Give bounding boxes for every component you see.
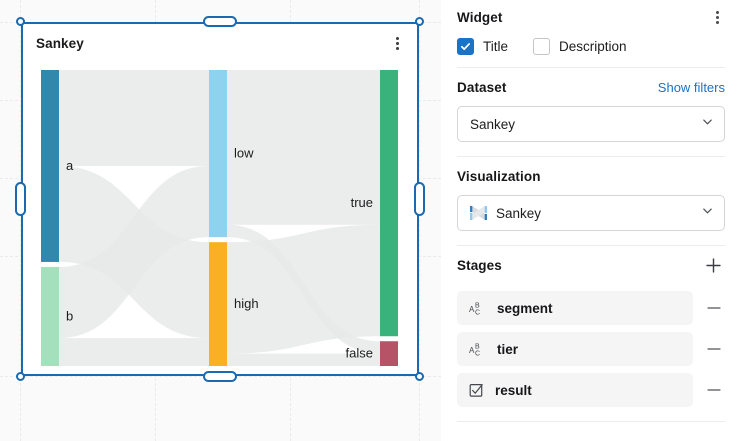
sankey-chart[interactable]: ablowhightruefalse [23,62,417,374]
svg-text:C: C [475,309,480,316]
string-type-icon: A B C [469,342,487,357]
sankey-link[interactable] [59,70,209,166]
widget-title: Sankey [36,36,84,51]
stages-section-title: Stages [457,258,502,273]
selected-widget[interactable]: Sankey ablowhightruefalse [21,22,419,376]
resize-handle-bottom[interactable] [203,371,237,382]
chevron-down-icon [701,204,714,222]
visualization-select-value: Sankey [496,206,541,221]
checkbox-description[interactable]: Description [533,38,627,55]
stage-item-label: tier [497,342,518,357]
remove-stage-button[interactable] [703,338,725,360]
widget-header: Sankey [23,24,417,62]
show-filters-link[interactable]: Show filters [658,80,725,95]
resize-handle-bottom-left[interactable] [16,372,25,381]
stage-item-label: result [495,383,532,398]
stages-section-header: Stages [457,246,725,284]
kebab-menu-icon[interactable] [389,36,405,51]
sankey-node-label: a [66,158,74,173]
sankey-link[interactable] [227,225,380,354]
sankey-node-label: false [346,346,373,361]
resize-handle-top-right[interactable] [415,17,424,26]
minus-icon [705,340,723,358]
dataset-select[interactable]: Sankey [457,106,725,142]
visualization-section: Visualization Sankey [457,157,725,246]
sankey-node-label: b [66,308,73,323]
sankey-link[interactable] [59,338,209,366]
stage-item-label: segment [497,301,553,316]
plus-icon [704,256,723,275]
checkbox-title-label: Title [483,39,508,54]
dataset-select-value: Sankey [470,117,515,132]
resize-handle-top[interactable] [203,16,237,27]
stage-item-segment[interactable]: A B C segment [457,291,693,325]
stage-row: A B C segment [457,291,725,325]
stage-row: result [457,373,725,407]
stages-section: Stages A B C segment [457,246,725,422]
stage-item-result[interactable]: result [457,373,693,407]
check-icon [457,38,474,55]
properties-panel: Widget Title Description [441,0,741,441]
sankey-node-b[interactable] [41,267,59,366]
sankey-node-low[interactable] [209,70,227,237]
kebab-menu-icon[interactable] [709,10,725,25]
checkbox-title[interactable]: Title [457,38,508,55]
sankey-node-label: high [234,296,259,311]
svg-text:B: B [475,343,480,350]
sankey-node-a[interactable] [41,70,59,262]
stage-item-tier[interactable]: A B C tier [457,332,693,366]
boolean-type-icon [469,383,485,398]
chevron-down-icon [701,115,714,133]
sankey-node-high[interactable] [209,242,227,366]
checkbox-empty-icon [533,38,550,55]
widget-section-title: Widget [457,10,502,25]
remove-stage-button[interactable] [703,297,725,319]
resize-handle-right[interactable] [414,182,425,216]
dataset-section-title: Dataset [457,80,506,95]
dataset-section: Dataset Show filters Sankey [457,68,725,157]
dashboard-canvas[interactable]: Sankey ablowhightruefalse [0,0,441,441]
visualization-section-title: Visualization [457,169,541,184]
sankey-node-label: true [351,195,373,210]
sankey-node-label: low [234,146,254,161]
widget-section-header: Widget [457,0,725,34]
dataset-section-header: Dataset Show filters [457,68,725,106]
resize-handle-left[interactable] [15,182,26,216]
sankey-svg: ablowhightruefalse [23,62,417,374]
string-type-icon: A B C [469,301,487,316]
svg-text:C: C [475,350,480,357]
stage-row: A B C tier [457,332,725,366]
visualization-section-header: Visualization [457,157,725,195]
minus-icon [705,299,723,317]
resize-handle-top-left[interactable] [16,17,25,26]
sankey-node-false[interactable] [380,341,398,366]
widget-card: Sankey ablowhightruefalse [21,22,419,376]
widget-display-options: Title Description [457,34,725,55]
checkbox-description-label: Description [559,39,627,54]
svg-text:B: B [475,302,480,309]
visualization-select[interactable]: Sankey [457,195,725,231]
widget-section: Widget Title Description [457,0,725,68]
sankey-node-true[interactable] [380,70,398,336]
minus-icon [705,381,723,399]
add-stage-button[interactable] [701,253,725,277]
remove-stage-button[interactable] [703,379,725,401]
app-root: Sankey ablowhightruefalse [0,0,741,441]
resize-handle-bottom-right[interactable] [415,372,424,381]
sankey-chart-icon [470,206,487,220]
divider [457,421,725,422]
